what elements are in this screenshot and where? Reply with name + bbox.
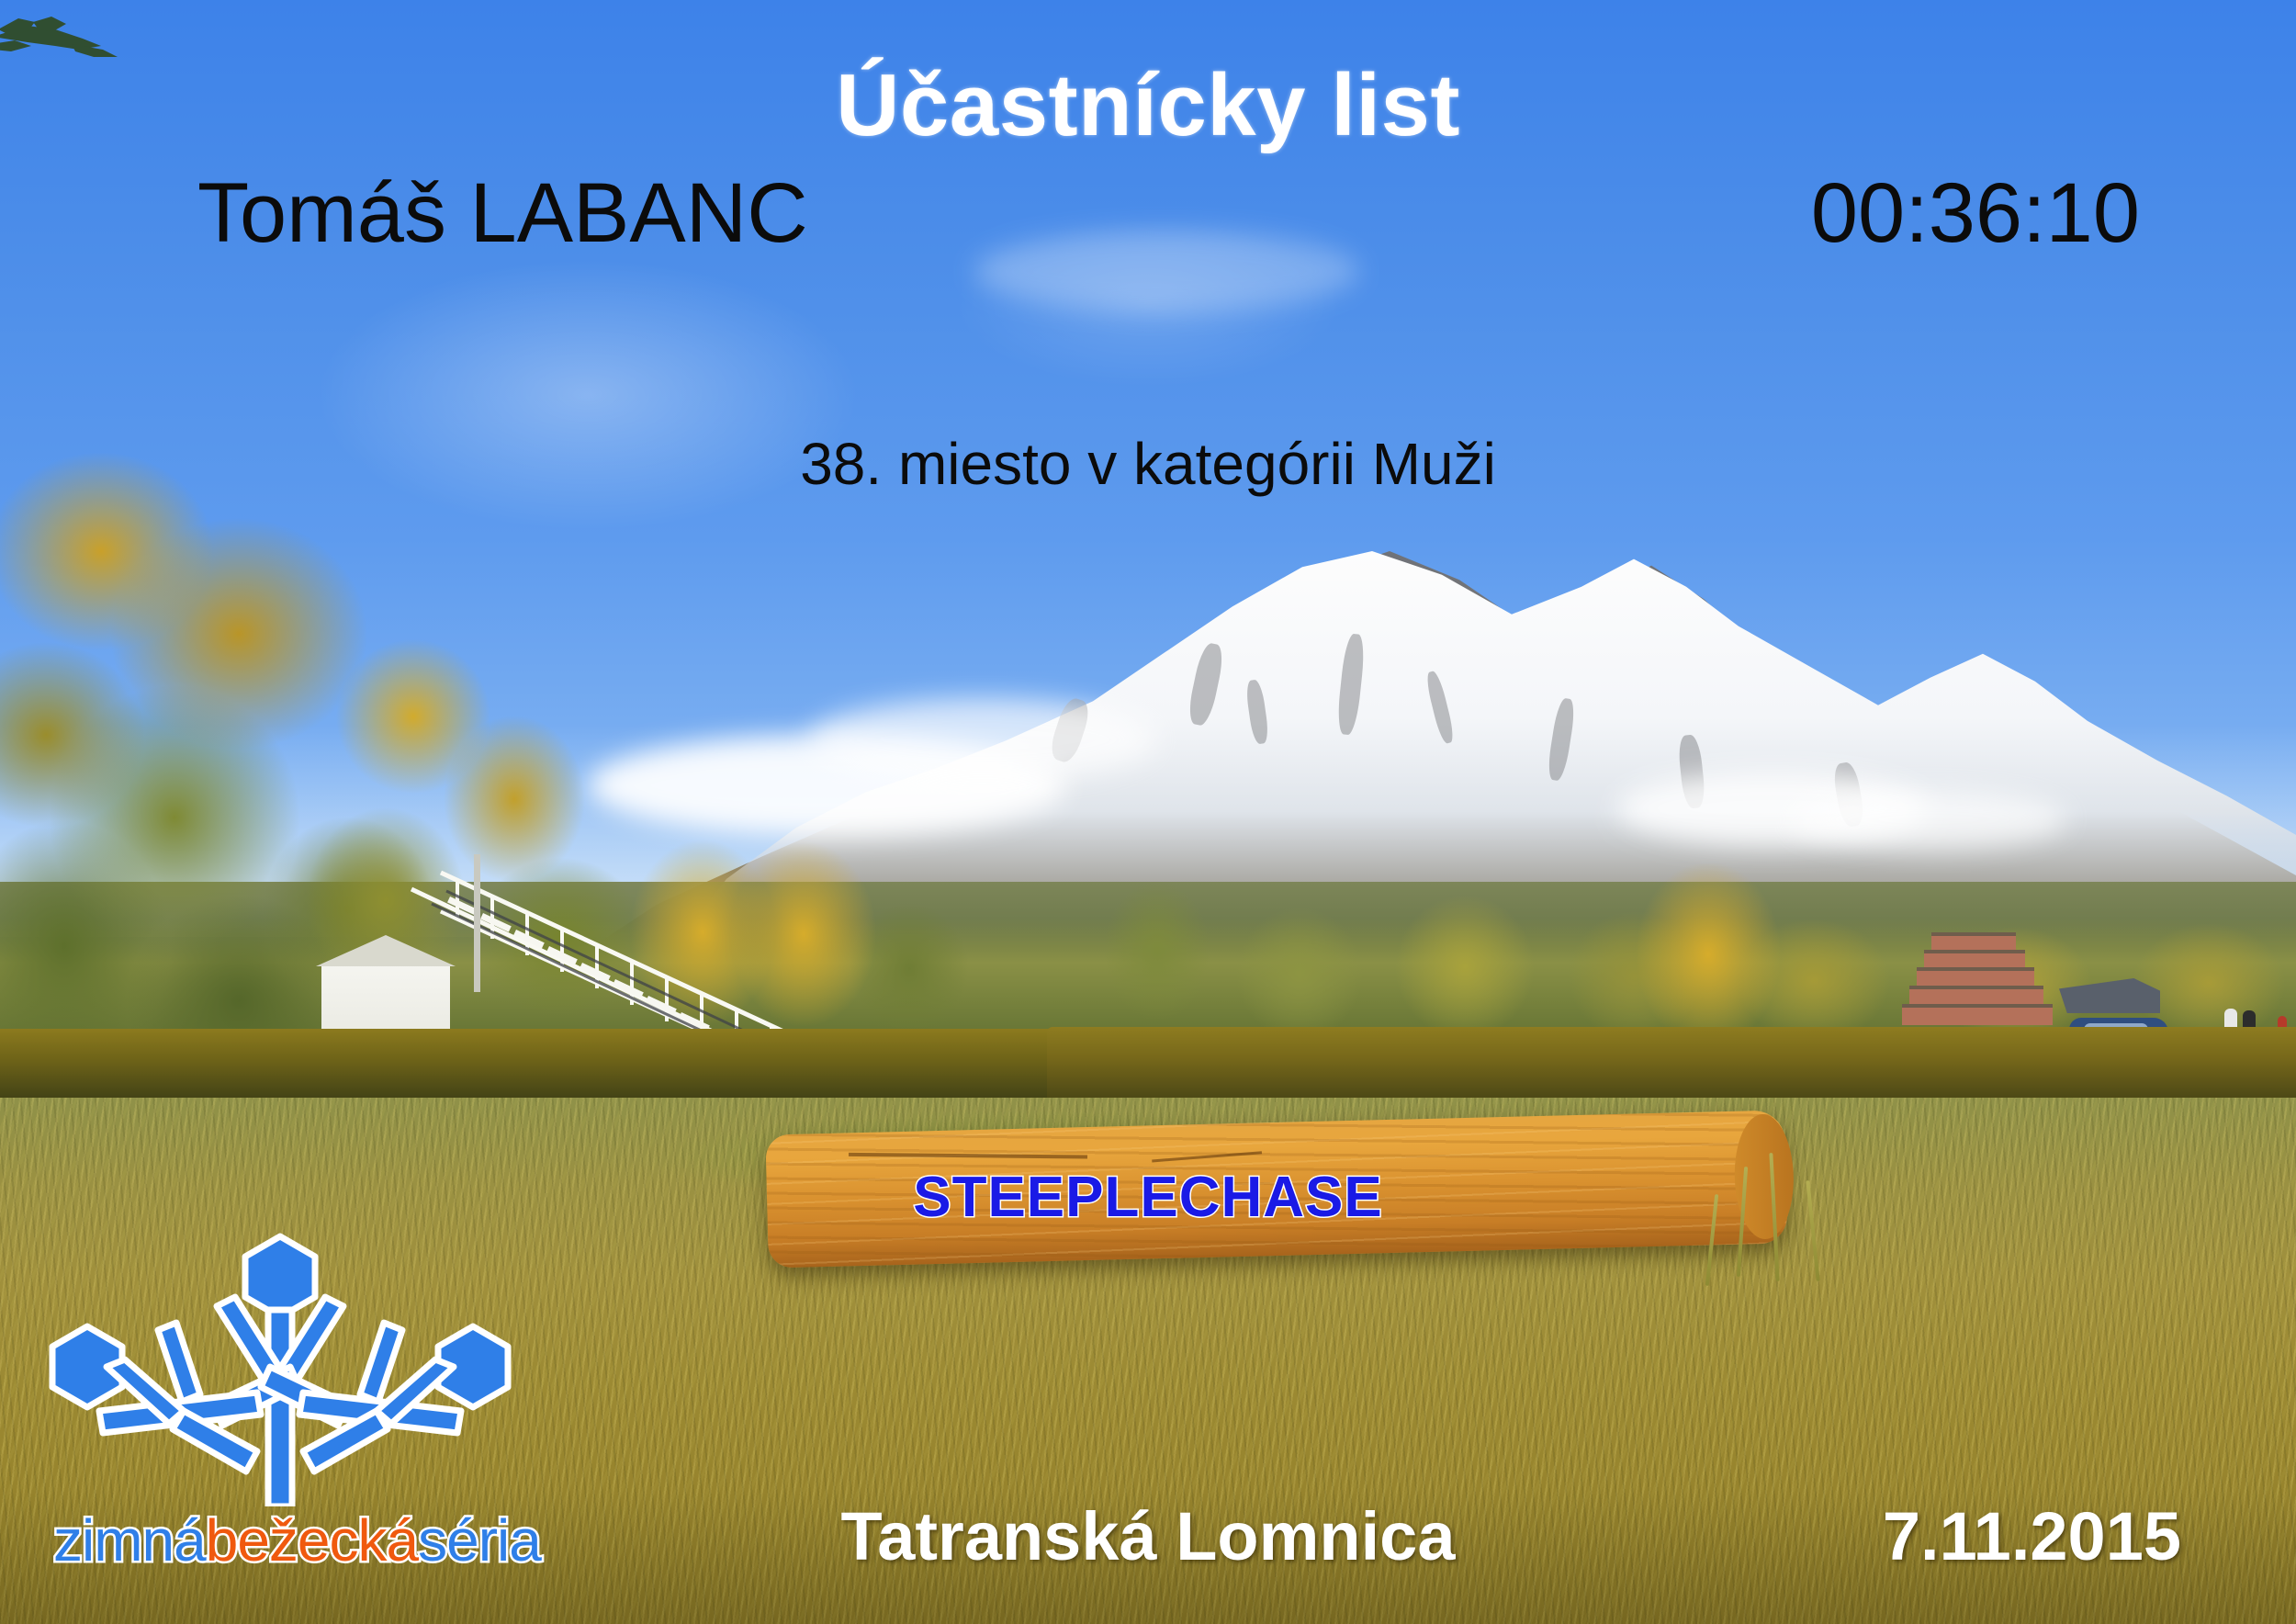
- logo-word-seria: séria: [418, 1507, 541, 1573]
- participant-certificate-poster: Účastnícky list Tomáš LABANC 00:36:10 38…: [0, 0, 2296, 1624]
- terrace-level: [1902, 1004, 2053, 1025]
- race-name-label: STEEPLECHASE: [0, 1165, 2296, 1230]
- page-title: Účastnícky list: [0, 55, 2296, 156]
- participant-name: Tomáš LABANC: [197, 165, 808, 262]
- placement-category-line: 38. miesto v kategórii Muži: [0, 430, 2296, 498]
- terrace-level: [1909, 986, 2043, 1006]
- logo-word-bezecka: bežecká: [206, 1507, 418, 1573]
- cloud-band: [808, 698, 1157, 781]
- logo-word-zimna: zimná: [53, 1507, 206, 1573]
- terrace-level: [1917, 967, 2034, 987]
- tree: [1084, 854, 1231, 1047]
- terrace-level: [1924, 950, 2025, 969]
- cloud-band: [1791, 790, 2066, 849]
- event-date-label: 7.11.2015: [1883, 1497, 2181, 1575]
- resort-building: [1915, 932, 2089, 1033]
- cloud-wisp: [974, 230, 1359, 312]
- logo-wordmark: zimnábežeckáséria: [53, 1506, 541, 1574]
- snowflake-icon: [37, 1231, 523, 1506]
- finish-time: 00:36:10: [1811, 165, 2140, 262]
- series-logo: zimnábežeckáséria: [37, 1231, 523, 1598]
- terrace-level: [1931, 932, 2016, 952]
